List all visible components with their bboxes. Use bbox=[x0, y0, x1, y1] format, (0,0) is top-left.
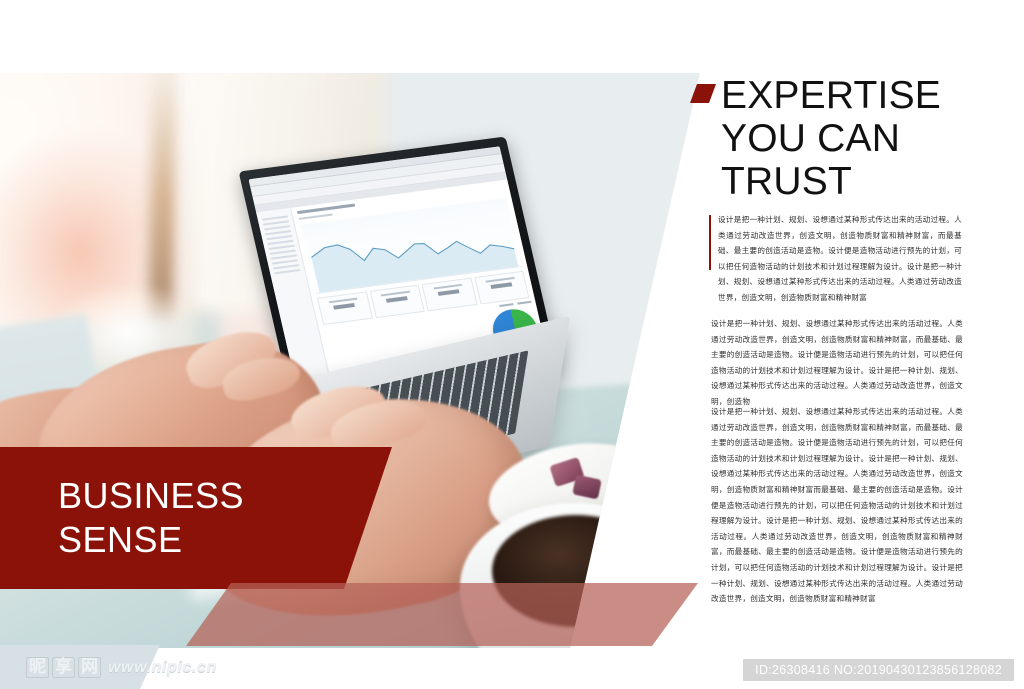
footer-id-text: ID:26308416 NO:20190430123856128082 bbox=[755, 663, 1002, 677]
stat-card bbox=[422, 278, 478, 312]
footer-id-bar: ID:26308416 NO:20190430123856128082 bbox=[743, 659, 1014, 681]
dashboard-subtitle-placeholder bbox=[298, 214, 332, 220]
dashboard-title-placeholder bbox=[297, 204, 355, 215]
watermark: 昵 享 网 www.nipic.cn bbox=[26, 657, 217, 678]
page-title: EXPERTISE YOU CAN TRUST bbox=[721, 74, 1011, 203]
rose-diagonal-overlay bbox=[186, 583, 698, 646]
watermark-logo-char-2: 享 bbox=[52, 657, 75, 678]
stat-card bbox=[369, 284, 425, 318]
poster-page: BUSINESS SENSE EXPERTISE YOU CAN TRUST 设… bbox=[0, 0, 1024, 689]
body-paragraph-2: 设计是把一种计划、规划、设想通过某种形式传达出来的活动过程。人类通过劳动改造世界… bbox=[711, 316, 963, 410]
banner-title: BUSINESS SENSE bbox=[58, 474, 388, 562]
watermark-logo-char-1: 昵 bbox=[26, 657, 49, 678]
watermark-logo-char-3: 网 bbox=[78, 657, 101, 678]
pie-chart-legend bbox=[499, 301, 531, 307]
stat-card bbox=[474, 271, 530, 305]
body-paragraph-3: 设计是把一种计划、规划、设想通过某种形式传达出来的活动过程。人类通过劳动改造世界… bbox=[711, 404, 963, 607]
body-paragraph-1: 设计是把一种计划、规划、设想通过某种形式传达出来的活动过程。人类通过劳动改造世界… bbox=[718, 212, 962, 306]
watermark-logo: 昵 享 网 bbox=[26, 657, 101, 678]
watermark-url: www.nipic.cn bbox=[108, 659, 217, 677]
stat-card bbox=[317, 291, 373, 325]
paragraph-accent-bar bbox=[709, 215, 711, 270]
